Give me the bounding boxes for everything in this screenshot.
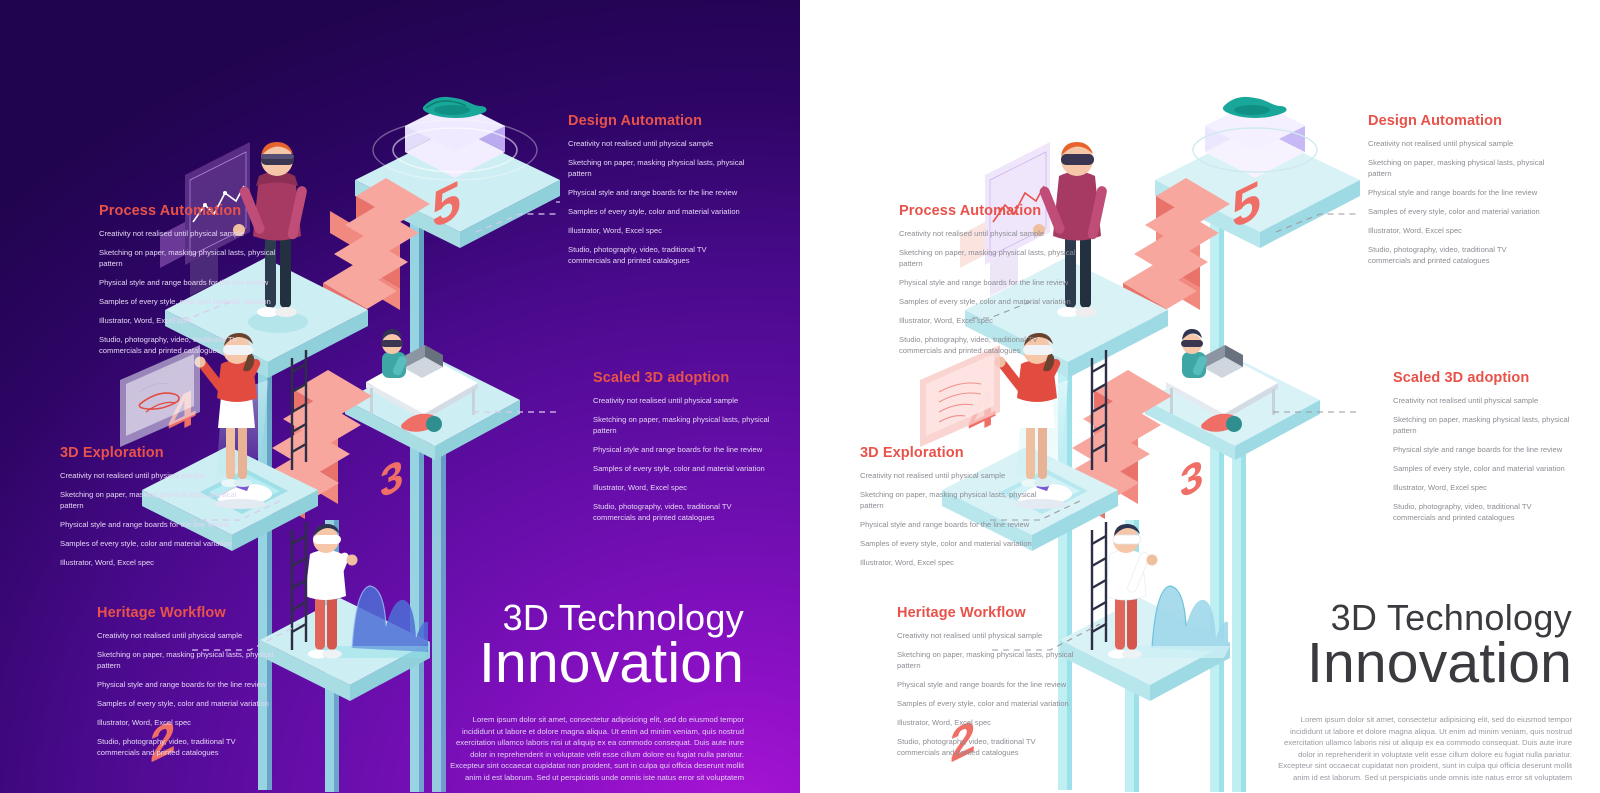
support-posts xyxy=(1058,200,1246,792)
step-item: Creativity not realised until physical s… xyxy=(860,470,1038,481)
step-item: Sketching on paper, masking physical las… xyxy=(568,157,746,179)
ladders xyxy=(292,350,306,650)
step-item: Samples of every style, color and materi… xyxy=(568,206,746,217)
step-item: Physical style and range boards for the … xyxy=(860,519,1038,530)
step-item: Illustrator, Word, Excel spec xyxy=(97,717,275,728)
step-item: Physical style and range boards for the … xyxy=(899,277,1077,288)
step-item: Illustrator, Word, Excel spec xyxy=(860,557,1038,568)
step-title: 3D Exploration xyxy=(860,445,1038,461)
figure-designer-seated xyxy=(381,329,408,378)
step-title: 3D Exploration xyxy=(60,445,238,461)
step-item: Illustrator, Word, Excel spec xyxy=(1368,225,1546,236)
step-item: Studio, photography, video, traditional … xyxy=(897,736,1075,758)
step-item: Creativity not realised until physical s… xyxy=(897,630,1075,641)
platform-3: 3 xyxy=(1145,329,1320,508)
step-item: Creativity not realised until physical s… xyxy=(899,228,1077,239)
step-item: Sketching on paper, masking physical las… xyxy=(593,414,771,436)
shoe-icon xyxy=(1223,97,1287,118)
step-item: Illustrator, Word, Excel spec xyxy=(60,557,238,568)
step-item: Studio, photography, video, traditional … xyxy=(899,334,1077,356)
ladders xyxy=(1092,350,1106,650)
poster-dark-variant: 5 xyxy=(0,0,800,793)
step-item: Creativity not realised until physical s… xyxy=(97,630,275,641)
svg-text:4: 4 xyxy=(968,378,996,448)
platform-number-4: 4 xyxy=(968,378,996,448)
step-block-3: Scaled 3D adoption Creativity not realis… xyxy=(593,370,771,531)
step-item: Physical style and range boards for the … xyxy=(97,679,275,690)
step-item: Studio, photography, video, traditional … xyxy=(593,501,771,523)
step-block-2: 3D Exploration Creativity not realised u… xyxy=(60,445,238,576)
step-item: Physical style and range boards for the … xyxy=(897,679,1075,690)
step-item: Samples of every style, color and materi… xyxy=(60,538,238,549)
step-item: Studio, photography, video, traditional … xyxy=(1368,244,1546,266)
step-item: Creativity not realised until physical s… xyxy=(593,395,771,406)
step-item: Sketching on paper, masking physical las… xyxy=(1393,414,1571,436)
step-block-4: Process Automation Creativity not realis… xyxy=(99,203,277,364)
step-title: Design Automation xyxy=(1368,113,1546,129)
poster-light-variant: 5 4 xyxy=(800,0,1600,793)
support-posts xyxy=(258,200,446,792)
step-item: Studio, photography, video, traditional … xyxy=(568,244,746,266)
step-item: Creativity not realised until physical s… xyxy=(99,228,277,239)
step-block-5: Design Automation Creativity not realise… xyxy=(1368,113,1546,274)
step-item: Physical style and range boards for the … xyxy=(593,444,771,455)
stairs-upper xyxy=(323,178,430,325)
svg-text:3: 3 xyxy=(380,450,403,508)
step-item: Physical style and range boards for the … xyxy=(568,187,746,198)
step-item: Creativity not realised until physical s… xyxy=(1368,138,1546,149)
step-item: Sketching on paper, masking physical las… xyxy=(1368,157,1546,179)
platform-number-5: 5 xyxy=(1232,168,1261,241)
step-item: Creativity not realised until physical s… xyxy=(1393,395,1571,406)
step-item: Sketching on paper, masking physical las… xyxy=(899,247,1077,269)
step-item: Samples of every style, color and materi… xyxy=(1393,463,1571,474)
step-item: Sketching on paper, masking physical las… xyxy=(60,489,238,511)
step-item: Creativity not realised until physical s… xyxy=(60,470,238,481)
figure-designer-seated xyxy=(1181,329,1208,378)
page-title: 3D Technology Innovation xyxy=(314,600,744,692)
step-item: Samples of every style, color and materi… xyxy=(97,698,275,709)
step-item: Illustrator, Word, Excel spec xyxy=(897,717,1075,728)
step-item: Studio, photography, video, traditional … xyxy=(97,736,275,758)
lorem-paragraph: Lorem ipsum dolor sit amet, consectetur … xyxy=(1276,714,1572,783)
step-item: Illustrator, Word, Excel spec xyxy=(593,482,771,493)
step-item: Illustrator, Word, Excel spec xyxy=(568,225,746,236)
step-item: Samples of every style, color and materi… xyxy=(899,296,1077,307)
step-title: Process Automation xyxy=(99,203,277,219)
desk-with-laptop xyxy=(1166,345,1278,420)
step-block-5: Design Automation Creativity not realise… xyxy=(568,113,746,274)
step-item: Physical style and range boards for the … xyxy=(1393,444,1571,455)
step-block-4: Process Automation Creativity not realis… xyxy=(899,203,1077,364)
desk-with-laptop xyxy=(366,345,478,420)
shoe-icon xyxy=(423,97,487,118)
step-item: Samples of every style, color and materi… xyxy=(897,698,1075,709)
poster-pair: 5 xyxy=(0,0,1600,793)
step-item: Sketching on paper, masking physical las… xyxy=(897,649,1075,671)
step-title: Scaled 3D adoption xyxy=(593,370,771,386)
step-item: Physical style and range boards for the … xyxy=(99,277,277,288)
stairs-upper xyxy=(1123,178,1230,325)
step-item: Samples of every style, color and materi… xyxy=(593,463,771,474)
step-block-3: Scaled 3D adoption Creativity not realis… xyxy=(1393,370,1571,531)
headline-line-2: Innovation xyxy=(1142,635,1572,692)
step-item: Creativity not realised until physical s… xyxy=(568,138,746,149)
platform-3: 3 xyxy=(345,329,520,508)
svg-text:5: 5 xyxy=(432,168,461,241)
shoe-model-red xyxy=(401,414,442,432)
platform-5: 5 xyxy=(355,97,560,248)
step-title: Scaled 3D adoption xyxy=(1393,370,1571,386)
step-title: Design Automation xyxy=(568,113,746,129)
platform-number-3: 3 xyxy=(1180,450,1203,508)
step-item: Illustrator, Word, Excel spec xyxy=(899,315,1077,326)
step-title: Process Automation xyxy=(899,203,1077,219)
step-block-1: Heritage Workflow Creativity not realise… xyxy=(897,605,1075,766)
step-item: Studio, photography, video, traditional … xyxy=(1393,501,1571,523)
svg-text:4: 4 xyxy=(168,378,196,448)
step-item: Sketching on paper, masking physical las… xyxy=(99,247,277,269)
step-block-2: 3D Exploration Creativity not realised u… xyxy=(860,445,1038,576)
step-item: Illustrator, Word, Excel spec xyxy=(1393,482,1571,493)
step-item: Physical style and range boards for the … xyxy=(60,519,238,530)
platform-number-3: 3 xyxy=(380,450,403,508)
step-item: Physical style and range boards for the … xyxy=(1368,187,1546,198)
stairs-lower xyxy=(261,370,372,519)
step-block-1: Heritage Workflow Creativity not realise… xyxy=(97,605,275,766)
headline-line-2: Innovation xyxy=(314,635,744,692)
platform-5: 5 xyxy=(1155,97,1360,248)
stairs-lower xyxy=(1061,370,1172,519)
step-item: Samples of every style, color and materi… xyxy=(860,538,1038,549)
shoe-model-red xyxy=(1201,414,1242,432)
step-item: Samples of every style, color and materi… xyxy=(1368,206,1546,217)
platform-number-4: 4 xyxy=(168,378,196,448)
lorem-paragraph: Lorem ipsum dolor sit amet, consectetur … xyxy=(448,714,744,783)
step-item: Studio, photography, video, traditional … xyxy=(99,334,277,356)
step-title: Heritage Workflow xyxy=(897,605,1075,621)
step-title: Heritage Workflow xyxy=(97,605,275,621)
svg-text:5: 5 xyxy=(1232,168,1261,241)
step-item: Sketching on paper, masking physical las… xyxy=(860,489,1038,511)
step-item: Illustrator, Word, Excel spec xyxy=(99,315,277,326)
page-title: 3D Technology Innovation xyxy=(1142,600,1572,692)
step-item: Samples of every style, color and materi… xyxy=(99,296,277,307)
step-item: Sketching on paper, masking physical las… xyxy=(97,649,275,671)
svg-text:3: 3 xyxy=(1180,450,1203,508)
platform-number-5: 5 xyxy=(432,168,461,241)
